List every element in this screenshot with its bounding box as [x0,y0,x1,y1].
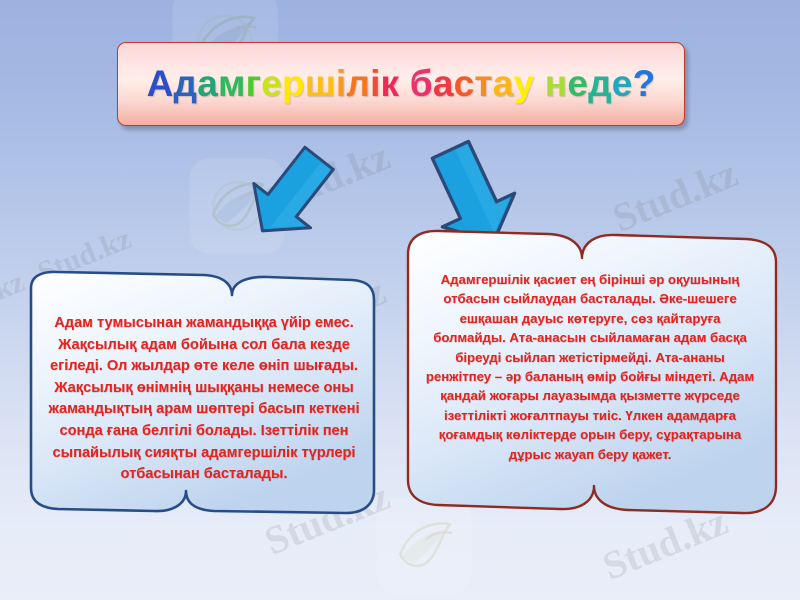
title-letter-5: е [261,63,282,104]
title-letter-16: т [474,63,492,104]
title-banner: Адамгершілік бастау неде? [117,42,685,126]
right-panel-text: Адамгершілік қасиет ең бірінші әр оқушын… [424,270,756,464]
page-title: Адамгершілік бастау неде? [147,63,656,105]
title-letter-15: с [454,63,475,104]
title-letter-2: а [197,63,218,104]
title-letter-12 [399,63,409,104]
left-panel-text: Адам тумысынан жамандыққа үйір емес. Жақ… [34,313,374,486]
slide-canvas: Stud.kzStud.kzStud.kzStud.kzStud.kzStud.… [0,0,800,600]
title-letter-23: е [612,63,633,104]
title-letter-22: д [588,63,612,104]
title-letter-7: ш [305,63,336,104]
title-letter-4: г [246,63,262,104]
title-letter-13: б [410,63,433,104]
title-letter-19 [534,63,544,104]
title-letter-21: е [567,63,588,104]
title-letter-1: д [174,63,198,104]
title-letter-8: і [336,63,346,104]
title-letter-10: і [370,63,380,104]
title-letter-14: а [433,63,454,104]
title-letter-11: к [381,63,400,104]
title-letter-9: л [346,63,370,104]
title-letter-17: а [493,63,514,104]
title-letter-3: м [218,63,246,104]
left-down-arrow [236,137,348,249]
title-letter-0: А [147,63,174,104]
title-letter-18: у [513,63,534,104]
title-letter-6: р [282,63,305,104]
title-letter-24: ? [633,63,656,104]
title-letter-20: н [545,63,568,104]
